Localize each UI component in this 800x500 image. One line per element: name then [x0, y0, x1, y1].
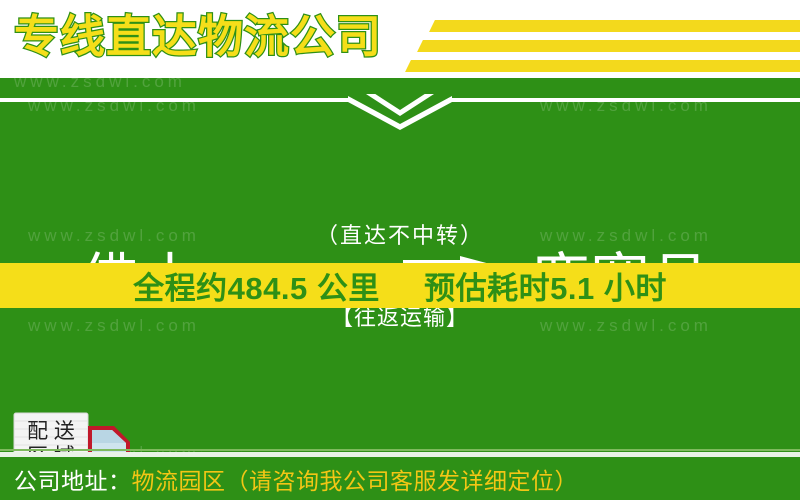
chevron-down-icon [340, 94, 460, 130]
banner-header: 专线直达物流公司 [0, 0, 800, 78]
header-stripe-3 [405, 60, 800, 72]
page-title: 专线直达物流公司 [14, 6, 382, 68]
watermark: www.zsdwl.com [14, 72, 186, 92]
header-rule-right [448, 98, 800, 102]
header-rule-left [0, 98, 352, 102]
address-value: 物流园区（请咨询我公司客服发详细定位） [132, 462, 579, 496]
truck-box-line1: 配 送 [27, 420, 75, 443]
footer-divider-thin [0, 449, 800, 451]
logistics-banner: 专线直达物流公司 www.zsdwl.com www.zsdwl.com www… [0, 0, 800, 500]
address-label: 公司地址： [14, 462, 132, 496]
route-stats-text: 全程约484.5 公里 预估耗时5.1 小时 [133, 263, 667, 308]
route-stats-band: 全程约484.5 公里 预估耗时5.1 小时 [0, 263, 800, 308]
company-address-bar: 公司地址： 物流园区（请咨询我公司客服发详细定位） [0, 457, 800, 500]
header-stripe-1 [429, 20, 800, 32]
duration-value: 预估耗时5.1 小时 [424, 271, 667, 306]
header-stripe-2 [417, 40, 800, 52]
distance-value: 全程约484.5 公里 [133, 271, 380, 306]
